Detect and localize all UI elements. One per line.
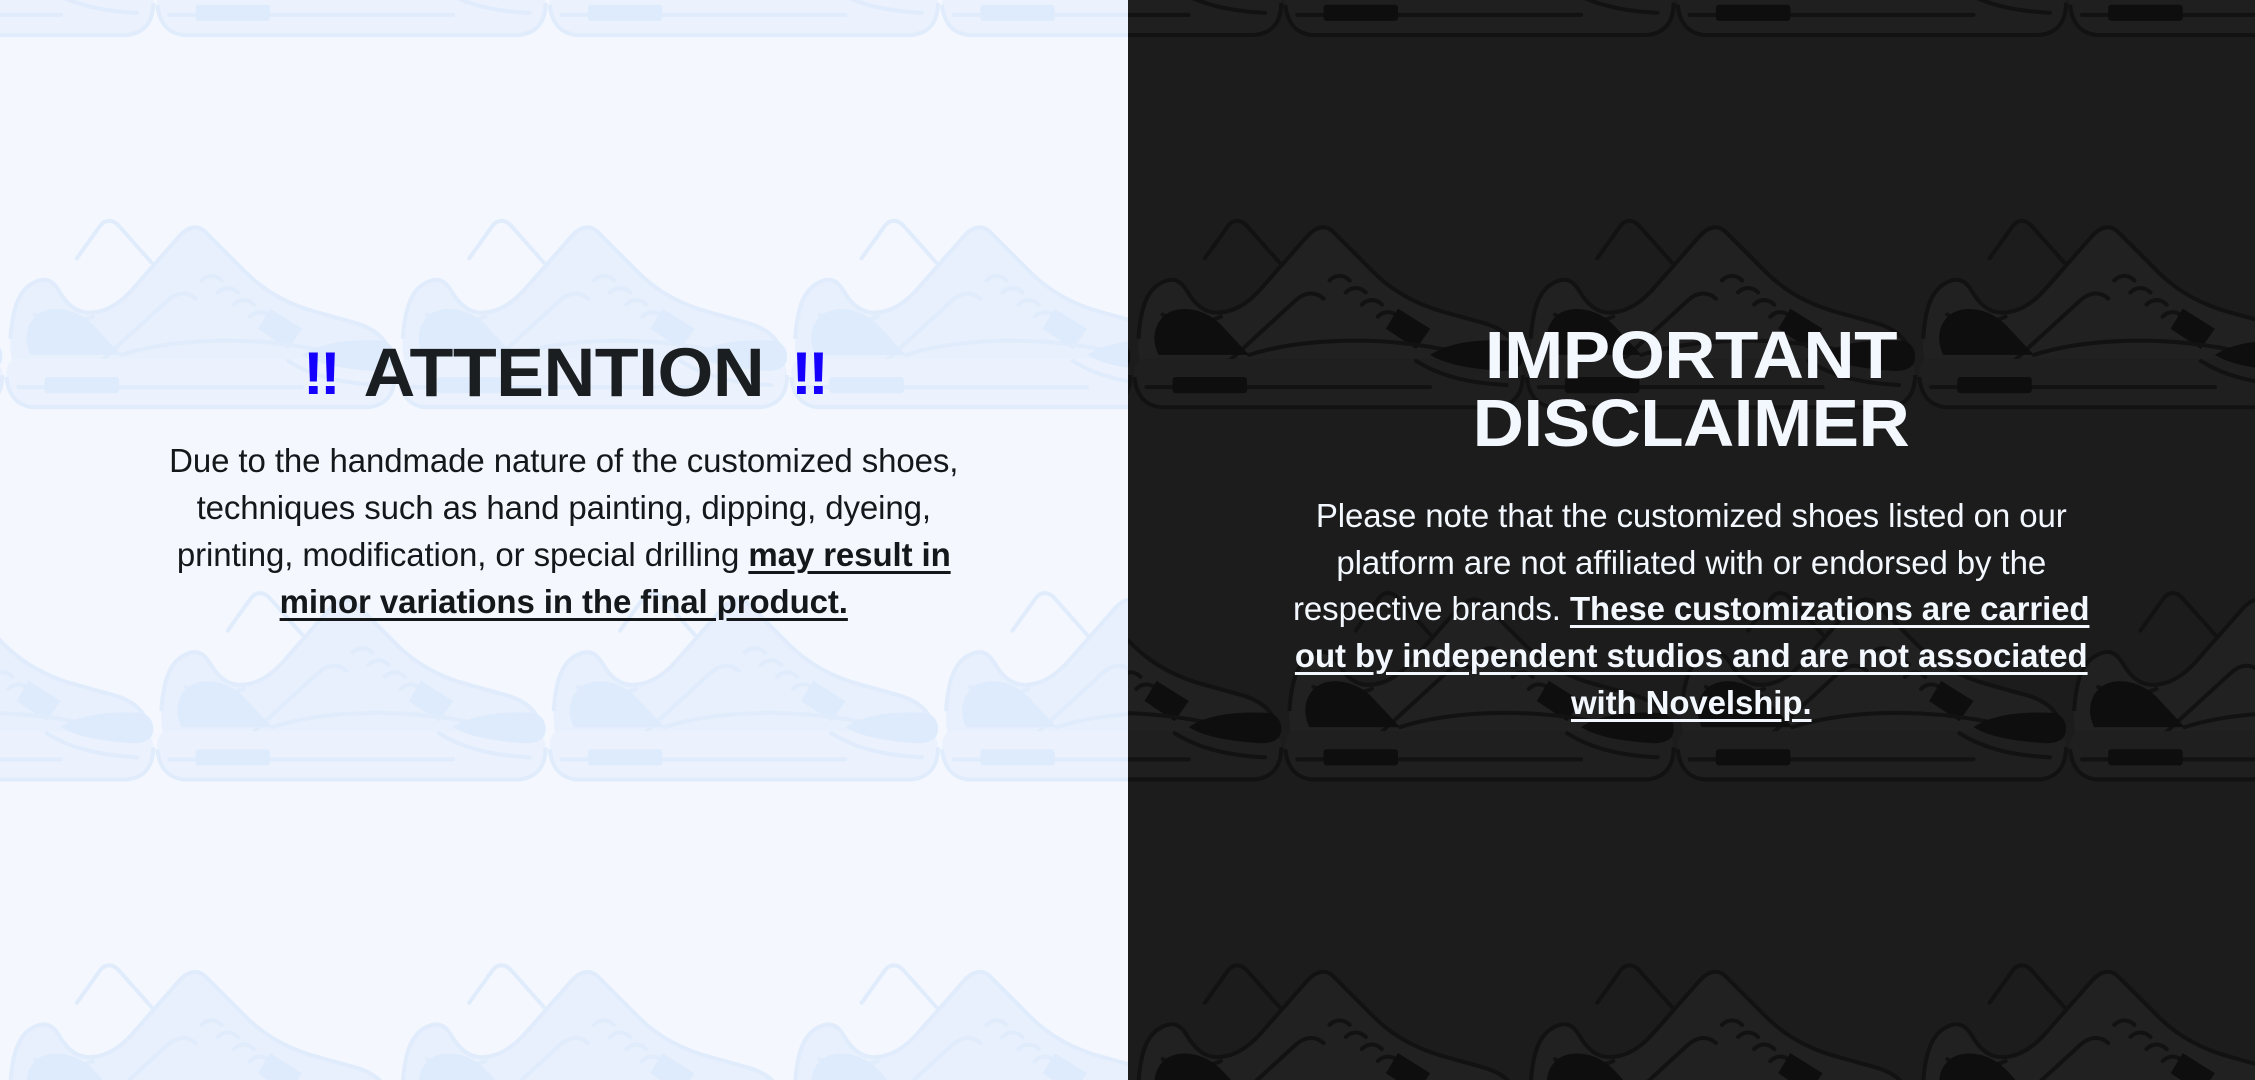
disclaimer-heading-line-1: IMPORTANT: [1473, 322, 1910, 390]
disclaimer-heading-line-2: DISCLAIMER: [1473, 390, 1910, 458]
disclaimer-body: Please note that the customized shoes li…: [1284, 493, 2099, 727]
attention-body: Due to the handmade nature of the custom…: [164, 438, 964, 625]
disclaimer-panel: IMPORTANT DISCLAIMER Please note that th…: [1128, 0, 2255, 1080]
double-exclamation-left-icon: ‼: [303, 340, 337, 407]
attention-panel: ‼ATTENTION‼ Due to the handmade nature o…: [0, 0, 1128, 1080]
disclaimer-banner: ‼ATTENTION‼ Due to the handmade nature o…: [0, 0, 2255, 1080]
disclaimer-heading: IMPORTANT DISCLAIMER: [1473, 322, 1910, 459]
attention-content: ‼ATTENTION‼ Due to the handmade nature o…: [0, 0, 1128, 625]
attention-heading-text: ATTENTION: [363, 334, 764, 411]
disclaimer-content: IMPORTANT DISCLAIMER Please note that th…: [1128, 0, 2255, 727]
double-exclamation-right-icon: ‼: [791, 340, 825, 407]
attention-heading: ‼ATTENTION‼: [303, 338, 825, 407]
